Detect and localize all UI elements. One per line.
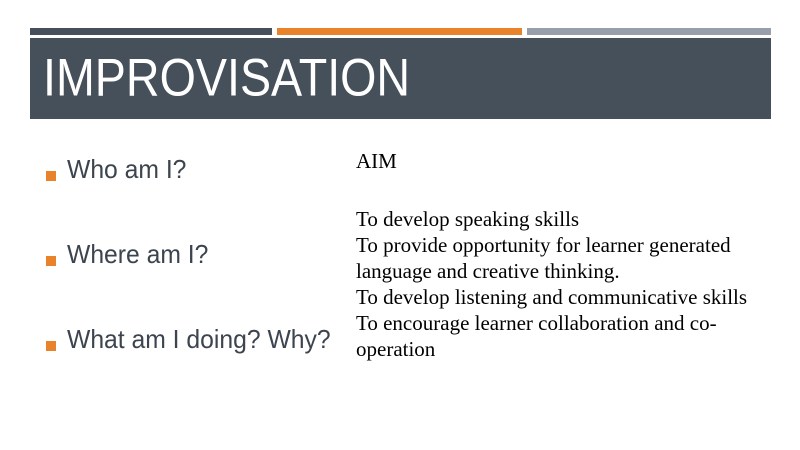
list-item-label: What am I doing? Why? (67, 320, 344, 358)
title-band: IMPROVISATION (30, 38, 771, 119)
list-item: Who am I? (40, 150, 350, 235)
square-bullet-icon (46, 171, 56, 181)
page-title-text: IMPROVISATION (43, 51, 410, 104)
accent-bar-grey-segment (527, 28, 771, 35)
aim-spacer (356, 174, 761, 206)
list-item-label: Who am I? (67, 150, 193, 188)
page-title: IMPROVISATION (43, 51, 460, 104)
slide-canvas: IMPROVISATION Who am I? Where am I? What… (0, 0, 800, 450)
list-item: Where am I? (40, 235, 350, 320)
square-bullet-icon (46, 341, 56, 351)
aim-heading: AIM (356, 148, 761, 174)
bullet-list: Who am I? Where am I? What am I doing? W… (40, 150, 350, 405)
list-item-label: Where am I? (67, 235, 216, 273)
list-item: What am I doing? Why? (40, 320, 350, 405)
accent-bar (30, 28, 771, 35)
aim-body-text: To develop speaking skills To provide op… (356, 206, 761, 362)
accent-bar-dark-segment (30, 28, 272, 35)
square-bullet-icon (46, 256, 56, 266)
aim-block: AIM To develop speaking skills To provid… (356, 148, 761, 362)
accent-bar-orange-segment (277, 28, 522, 35)
